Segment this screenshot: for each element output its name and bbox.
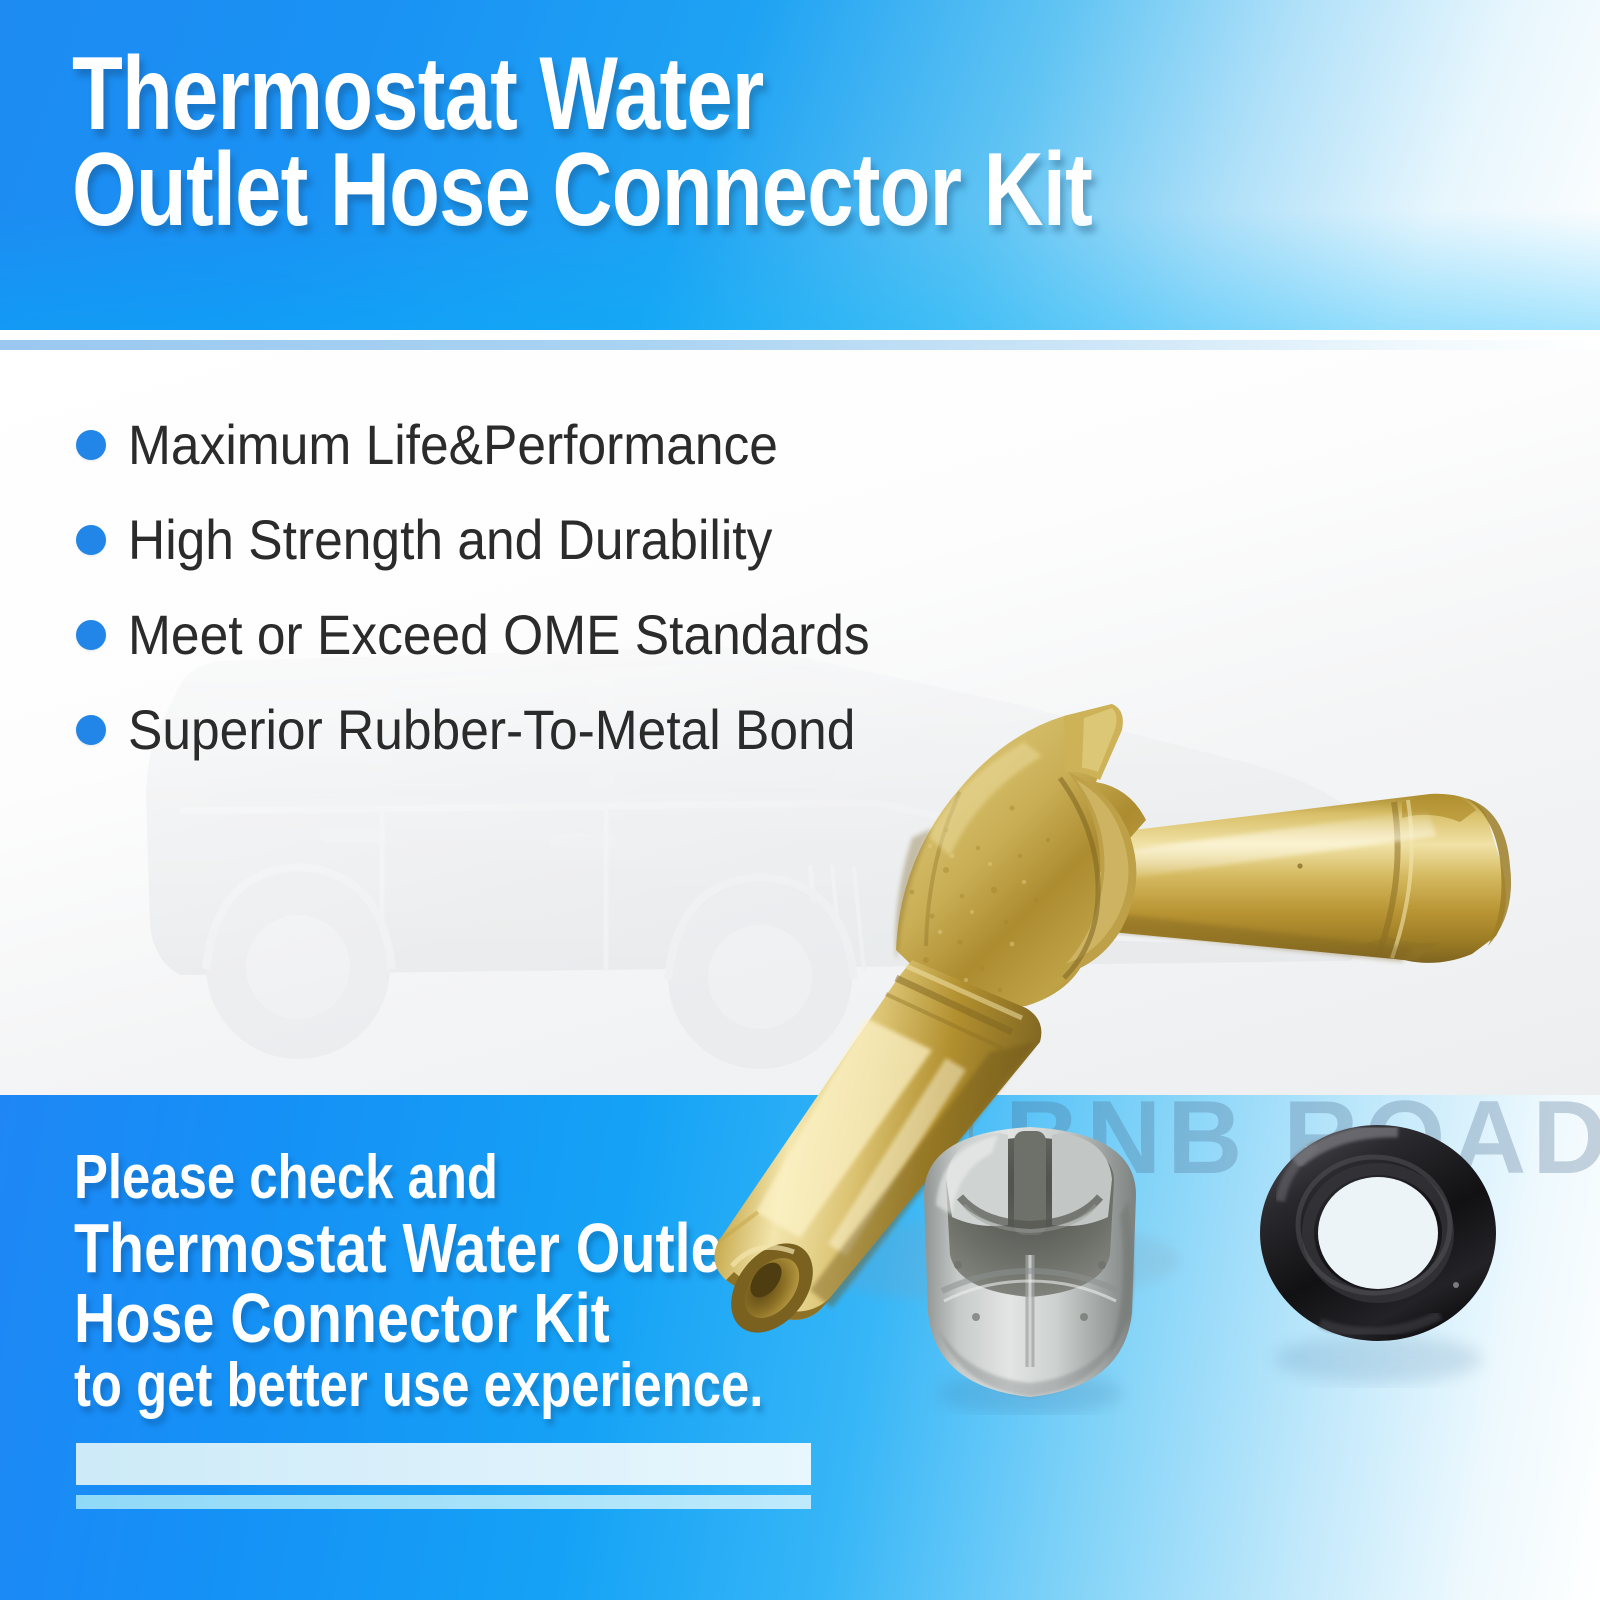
bullet-dot-icon [76, 620, 106, 650]
feature-label: High Strength and Durability [128, 507, 772, 572]
page-title: Thermostat Water Outlet Hose Connector K… [72, 46, 1372, 238]
header-divider-gap [0, 330, 1600, 340]
title-line-1: Thermostat Water [72, 46, 1112, 142]
product-poster: Thermostat Water Outlet Hose Connector K… [0, 0, 1600, 1600]
feature-item-3: Meet or Exceed OME Standards [76, 602, 934, 667]
title-line-2: Outlet Hose Connector Kit [72, 142, 1112, 238]
footer-accent-bar [76, 1443, 811, 1485]
bullet-dot-icon [76, 430, 106, 460]
feature-item-2: High Strength and Durability [76, 507, 828, 572]
bullet-dot-icon [76, 715, 106, 745]
feature-item-1: Maximum Life&Performance [76, 412, 834, 477]
header-divider-line [0, 340, 1600, 350]
brass-elbow-body [895, 704, 1146, 1012]
kit-small-parts [880, 1105, 1600, 1415]
header-banner: Thermostat Water Outlet Hose Connector K… [0, 0, 1600, 330]
feature-label: Maximum Life&Performance [128, 412, 778, 477]
black-rubber-o-ring [1260, 1125, 1496, 1341]
feature-label: Meet or Exceed OME Standards [128, 602, 870, 667]
bullet-dot-icon [76, 525, 106, 555]
grey-plastic-retaining-clip [924, 1127, 1136, 1397]
footer-accent-underline [76, 1495, 811, 1509]
